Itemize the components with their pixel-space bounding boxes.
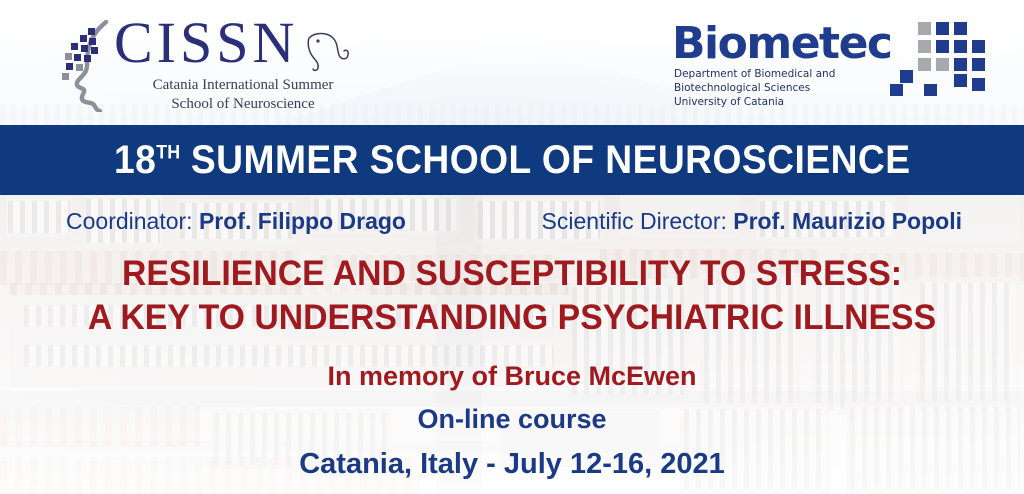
title-line-2: A KEY TO UNDERSTANDING PSYCHIATRIC ILLNE… <box>18 296 1006 340</box>
coordinator: Coordinator: Prof. Filippo Drago <box>66 208 406 235</box>
biometec-subtitle-line2: University of Catania <box>674 96 924 110</box>
banner: 18TH SUMMER SCHOOL OF NEUROSCIENCE <box>0 125 1024 195</box>
biometec-subtitle: Department of Biomedical and Biotechnolo… <box>674 68 924 110</box>
elephant-icon <box>305 30 353 74</box>
director-label: Scientific Director: <box>542 208 734 234</box>
pixel-squares-icon <box>58 18 120 110</box>
banner-title: 18TH SUMMER SCHOOL OF NEUROSCIENCE <box>114 138 911 183</box>
course-mode: On-line course <box>0 404 1024 435</box>
people-row: Coordinator: Prof. Filippo Drago Scienti… <box>0 208 1024 242</box>
banner-ordinal-suffix: TH <box>156 142 180 163</box>
scientific-director: Scientific Director: Prof. Maurizio Popo… <box>542 208 962 235</box>
cissn-subtitle-line2: School of Neuroscience <box>118 95 368 114</box>
biometec-subtitle-line1: Department of Biomedical and Biotechnolo… <box>674 68 924 96</box>
place-and-date: Catania, Italy - July 12-16, 2021 <box>0 448 1024 481</box>
banner-edition-number: 18 <box>114 138 156 182</box>
title-line-1: RESILIENCE AND SUSCEPTIBILITY TO STRESS: <box>18 252 1006 296</box>
pixel-grid-icon <box>890 18 994 96</box>
cissn-wordmark: CISSN <box>114 14 298 72</box>
biometec-logo: Biometec Department of Biomedical and Bi… <box>672 26 992 104</box>
director-name: Prof. Maurizio Popoli <box>733 208 962 234</box>
biometec-wordmark: Biometec <box>672 22 892 66</box>
cissn-subtitle-line1: Catania International Summer <box>118 76 368 95</box>
conference-poster: CISSN Catania International Summer Schoo… <box>0 0 1024 494</box>
cissn-logo: CISSN Catania International Summer Schoo… <box>60 18 370 114</box>
coordinator-label: Coordinator: <box>66 208 199 234</box>
page-title: RESILIENCE AND SUSCEPTIBILITY TO STRESS:… <box>0 252 1024 341</box>
cissn-subtitle: Catania International Summer School of N… <box>118 76 368 114</box>
coordinator-name: Prof. Filippo Drago <box>199 208 406 234</box>
banner-title-rest: SUMMER SCHOOL OF NEUROSCIENCE <box>180 138 910 182</box>
memorial-line: In memory of Bruce McEwen <box>0 361 1024 392</box>
